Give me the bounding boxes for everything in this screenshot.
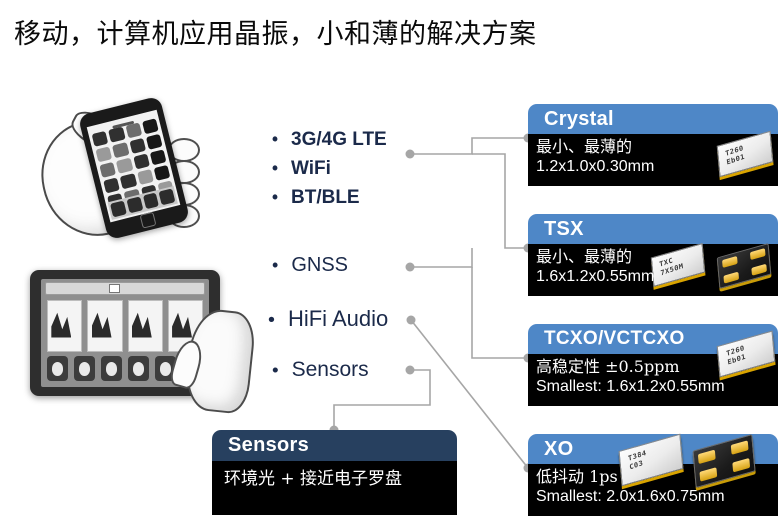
tablet-in-hand-image — [26, 266, 252, 408]
bullet-label: WiFi — [291, 158, 331, 180]
smartphone-app-grid — [92, 118, 172, 200]
list-item: • 3G/4G LTE — [272, 129, 387, 151]
bullet-label: BT/BLE — [291, 187, 360, 209]
bullet-label: Sensors — [292, 358, 369, 382]
card-title: Crystal — [528, 104, 778, 134]
card-line-1: 最小、最薄的 — [536, 137, 772, 157]
card-line-2: 1.2x1.0x0.30mm — [536, 157, 772, 177]
card-line-1: 高稳定性 ±0.5ppm — [536, 357, 772, 377]
list-item-gnss: • GNSS — [272, 254, 348, 277]
tablet-content-cards — [47, 300, 203, 352]
bullet-marker-icon: • — [272, 189, 278, 206]
card-title: Sensors — [212, 430, 457, 461]
card-line-1: 环境光 + 接近电子罗盘 — [224, 469, 449, 491]
card-title: TSX — [528, 214, 778, 244]
card-body: T260 Eb01 最小、最薄的 1.2x1.0x0.30mm — [528, 134, 778, 186]
bullet-label: GNSS — [291, 254, 348, 277]
smartphone-screen — [87, 110, 181, 223]
card-line-2: Smallest: 2.0x1.6x0.75mm — [536, 487, 772, 507]
product-card-xo[interactable]: XO T384 C03 低抖动 1ps Smallest: 2.0x1.6x0.… — [528, 434, 778, 516]
smartphone-in-hand-image — [34, 96, 210, 248]
list-item-sensors: • Sensors — [272, 358, 369, 382]
bullet-label: 3G/4G LTE — [291, 129, 387, 151]
page-title: 移动，计算机应用晶振，小和薄的解决方案 — [14, 12, 537, 51]
list-item-hifi-audio: • HiFi Audio — [268, 306, 388, 332]
card-body: T260 Eb01 高稳定性 ±0.5ppm Smallest: 1.6x1.2… — [528, 354, 778, 406]
bullet-marker-icon: • — [272, 362, 279, 381]
card-line-2: Smallest: 1.6x1.2x0.55mm — [536, 377, 772, 397]
list-item: • BT/BLE — [272, 187, 387, 209]
card-body: 环境光 + 接近电子罗盘 — [212, 461, 457, 515]
bullet-marker-icon: • — [272, 256, 278, 274]
product-card-crystal[interactable]: Crystal T260 Eb01 最小、最薄的 1.2x1.0x0.30mm — [528, 104, 778, 186]
bullet-marker-icon: • — [268, 311, 275, 331]
card-line-1: 最小、最薄的 — [536, 247, 772, 267]
card-line-1: 低抖动 1ps — [536, 467, 772, 487]
smartphone-home-button — [140, 212, 157, 229]
list-item: • WiFi — [272, 158, 387, 180]
product-card-tcxo-vctcxo[interactable]: TCXO/VCTCXO T260 Eb01 高稳定性 ±0.5ppm Small… — [528, 324, 778, 406]
card-body: TXC 7X50M 最小、最薄的 1.6x1.2x0.55mm — [528, 244, 778, 296]
bullet-label: HiFi Audio — [288, 306, 388, 332]
product-card-tsx[interactable]: TSX TXC 7X50M 最小、最薄的 1.6x1.2x0.55mm — [528, 214, 778, 296]
bullet-list-connectivity: • 3G/4G LTE • WiFi • BT/BLE — [272, 129, 387, 216]
card-line-2: 1.6x1.2x0.55mm — [536, 267, 772, 287]
bullet-marker-icon: • — [272, 160, 278, 177]
tablet-address-bar — [45, 282, 205, 295]
product-card-sensors[interactable]: Sensors 环境光 + 接近电子罗盘 — [212, 430, 457, 515]
card-body: T384 C03 低抖动 1ps Smallest: 2.0x1.6x0.75m… — [528, 464, 778, 516]
bullet-marker-icon: • — [272, 131, 278, 148]
